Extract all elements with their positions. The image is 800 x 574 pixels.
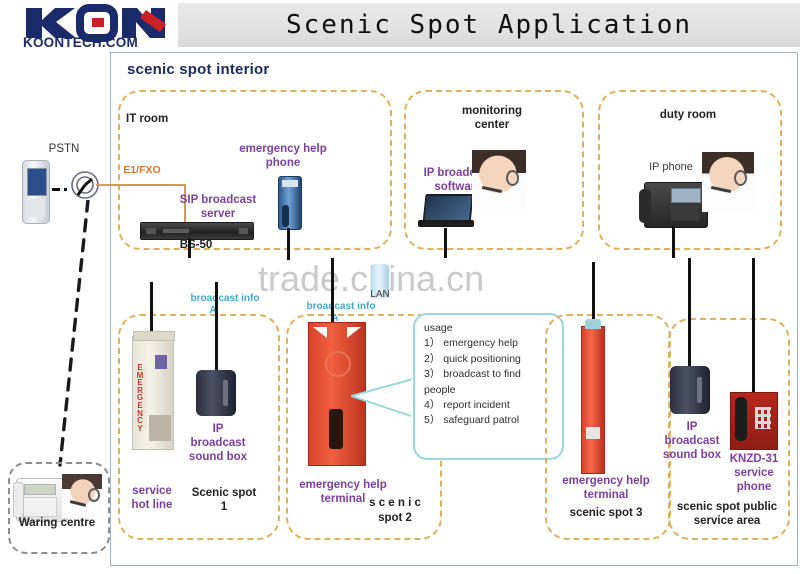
usage-callout: usage 1） emergency help 2） quick positio… <box>413 313 564 460</box>
operator-photo-monitoring <box>472 150 526 214</box>
psa-soundbox-uplink <box>688 258 691 368</box>
e1-fxo-line-h <box>96 184 186 186</box>
usage-content: usage 1） emergency help 2） quick positio… <box>424 321 556 429</box>
ip-phone-label: IP phone <box>636 160 706 174</box>
ip-soundbox-spot1-icon <box>196 370 236 416</box>
duty-room-label: duty room <box>608 108 768 122</box>
emergency-terminal-spot3-icon <box>581 326 605 474</box>
spot1-soundbox-uplink <box>215 282 218 372</box>
pstn-link-dash <box>52 188 60 191</box>
usage-item: 4） report incident <box>424 398 556 413</box>
usage-title: usage <box>424 321 556 336</box>
ip-desk-phone-icon <box>644 182 708 228</box>
e1-fxo-label: E1/FXO <box>112 163 172 177</box>
logo-mark-icon: KOONTECH.COM <box>18 4 178 48</box>
knzd31-service-phone-label: KNZD-31 service phone <box>716 452 792 494</box>
ip-broadcast-soundbox-label-1: IP broadcast sound box <box>185 422 251 464</box>
interior-title: scenic spot interior <box>127 61 269 78</box>
knzd31-service-phone-icon <box>730 392 778 450</box>
it-room-label: IT room <box>126 112 196 126</box>
waring-centre-label: Waring centre <box>10 516 104 530</box>
emergency-help-phone-icon <box>278 176 302 230</box>
usage-callout-tail <box>351 378 417 418</box>
public-service-area-name: scenic spot public service area <box>664 500 790 528</box>
pstn-waring-link <box>40 200 110 470</box>
usage-item: 5） safeguard patrol <box>424 413 556 428</box>
logo-text: KOONTECH.COM <box>23 35 138 48</box>
emergency-terminal-label-3: emergency help terminal <box>548 474 664 502</box>
laptop-icon <box>418 194 474 228</box>
laptop-downlink <box>444 228 447 258</box>
operator-photo-duty <box>702 152 754 212</box>
duty-phone-downlink <box>672 226 675 258</box>
ip-soundbox-psa-icon <box>670 366 710 414</box>
usage-item: 2） quick positioning <box>424 352 556 367</box>
scenic-spot-3-name: scenic spot 3 <box>548 506 664 520</box>
pstn-label: PSTN <box>34 142 94 156</box>
sip-server-label: SIP broadcast server <box>163 193 273 221</box>
service-hotline-label: service hot line <box>122 484 182 512</box>
server-downlink <box>188 238 191 258</box>
bs50-model-label: BS-50 <box>160 238 232 252</box>
pstn-link-dot <box>64 188 67 191</box>
spot1-terminal-uplink <box>150 282 153 338</box>
usage-item: 3） broadcast to find <box>424 367 556 382</box>
emergency-help-phone-label: emergency help phone <box>228 142 338 170</box>
scenic-spot-1-name: Scenic spot 1 <box>186 486 262 514</box>
monitoring-center-label: monitoring center <box>414 104 570 132</box>
koontech-logo: KOONTECH.COM <box>18 4 178 48</box>
page-header: KOONTECH.COM Scenic Spot Application <box>0 0 800 48</box>
emergency-vertical-text: EMERGENCY <box>135 364 145 432</box>
psa-phone-uplink <box>752 258 755 394</box>
usage-item: people <box>424 383 556 398</box>
usage-item: 1） emergency help <box>424 336 556 351</box>
phone-downlink <box>287 228 290 260</box>
spot2-terminal-uplink <box>331 258 334 324</box>
title-bar: Scenic Spot Application <box>178 3 800 47</box>
scenic-spot-2-name: s c e n i c spot 2 <box>356 496 434 526</box>
operator-photo-waring <box>62 474 102 518</box>
page-title: Scenic Spot Application <box>178 3 800 47</box>
